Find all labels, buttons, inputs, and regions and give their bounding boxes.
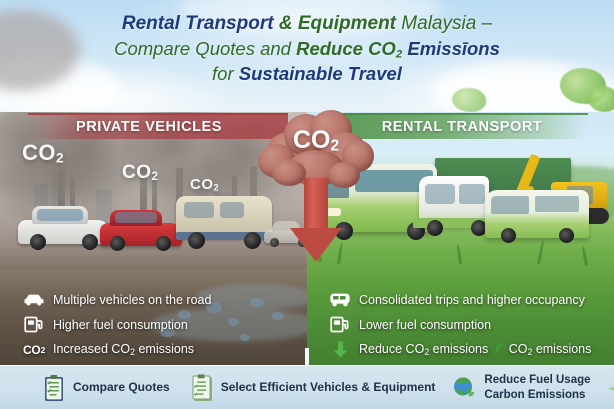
bullet-label: Lower fuel consumption: [359, 318, 491, 332]
bullet-label: Reduce CO2 emissions CO2 emissions: [359, 342, 591, 357]
footer-label: Compare Quotes: [73, 380, 170, 395]
title-reduce-co2: Reduce CO: [296, 38, 396, 59]
globe-leaf-icon: [451, 375, 477, 401]
private-vehicles-bullet-list: Multiple vehicles on the road Higher fue…: [20, 288, 296, 363]
panel-divider-notch: [305, 348, 309, 365]
ghost-co2-label: CO2: [190, 176, 219, 193]
fuel-pump-icon: [326, 315, 354, 335]
arrow-head: [290, 228, 342, 262]
bus-icon: [326, 290, 354, 310]
footer-label-line1: Reduce Fuel Usage: [484, 373, 590, 387]
bullet-label: Consolidated trips and higher occupancy: [359, 293, 585, 307]
bullet-row: Reduce CO2 emissions CO2 emissions: [326, 338, 602, 361]
bullet-row: Higher fuel consumption: [20, 313, 296, 336]
footer-label: Select Efficient Vehicles & Equipment: [221, 380, 436, 395]
green-down-arrow-icon: [326, 340, 354, 360]
ghost-co2-label: CO2: [22, 140, 64, 166]
leaf-icon: [494, 342, 507, 357]
title-sustainable-travel: Sustainable Travel: [239, 63, 402, 84]
plant-sprout-icon: [601, 369, 614, 407]
footer-item-select-vehicles[interactable]: Select Efficient Vehicles & Equipment: [192, 374, 436, 402]
bullet-label: Multiple vehicles on the road: [53, 293, 211, 307]
footer-label-line2: Carbon Emissions: [484, 388, 590, 402]
white-car: [18, 204, 110, 248]
red-down-arrow: [290, 178, 342, 262]
poster-title: Rental Transport & Equipment Malaysia – …: [0, 12, 614, 86]
bullet-row: Multiple vehicles on the road: [20, 288, 296, 311]
title-emissions: Emissīons: [402, 38, 500, 59]
title-ampersand: &: [274, 13, 298, 34]
rental-transport-bullet-list: Consolidated trips and higher occupancy …: [326, 288, 602, 363]
title-line-2: Compare Quotes and Reduce CO2 Emissīons: [0, 37, 614, 62]
private-vehicles-ribbon: PRIVATE VEHICLES: [28, 113, 288, 139]
bullet-label: Increased CO2 emissions: [53, 342, 194, 357]
title-malaysia: Malaysia –: [396, 13, 492, 34]
title-equipment: Equipment: [298, 13, 396, 34]
title-rental-transport: Rental Transport: [122, 13, 274, 34]
fuel-pump-icon: [20, 315, 48, 335]
infographic-poster: Rental Transport & Equipment Malaysia – …: [0, 0, 614, 409]
title-line-1: Rental Transport & Equipment Malaysia –: [0, 12, 614, 37]
rental-transport-label: RENTAL TRANSPORT: [382, 119, 543, 135]
footer-bar: Compare Quotes Select Efficient Vehicles…: [0, 365, 614, 409]
bullet-row: Lower fuel consumption: [326, 313, 602, 336]
title-compare-quotes: Compare Quotes and: [114, 38, 296, 59]
ghost-co2-label: CO2: [122, 162, 159, 184]
bullet-row: Consolidated trips and higher occupancy: [326, 288, 602, 311]
arrow-shaft: [304, 178, 328, 230]
clipboard-icon: [192, 374, 214, 402]
red-car: [100, 208, 182, 250]
car-icon: [20, 290, 48, 310]
bullet-row: CO2 Increased CO2 emissions: [20, 338, 296, 361]
title-for: for: [212, 63, 239, 84]
private-vehicles-label: PRIVATE VEHICLES: [76, 119, 222, 135]
bullet-label: Higher fuel consumption: [53, 318, 188, 332]
co2-text-icon: CO2: [20, 340, 48, 360]
footer-item-reduce-fuel[interactable]: Reduce Fuel Usage Carbon Emissions: [451, 373, 590, 401]
title-line-3: for Sustainable Travel: [0, 62, 614, 86]
cloud-co2-label: CO2: [258, 126, 374, 155]
green-van: [485, 190, 589, 252]
beige-van: [176, 192, 272, 250]
foliage-accent: [452, 88, 486, 112]
clipboard-icon: [44, 374, 66, 402]
footer-item-compare-quotes[interactable]: Compare Quotes: [44, 374, 170, 402]
footer-item-plant: [601, 369, 614, 407]
